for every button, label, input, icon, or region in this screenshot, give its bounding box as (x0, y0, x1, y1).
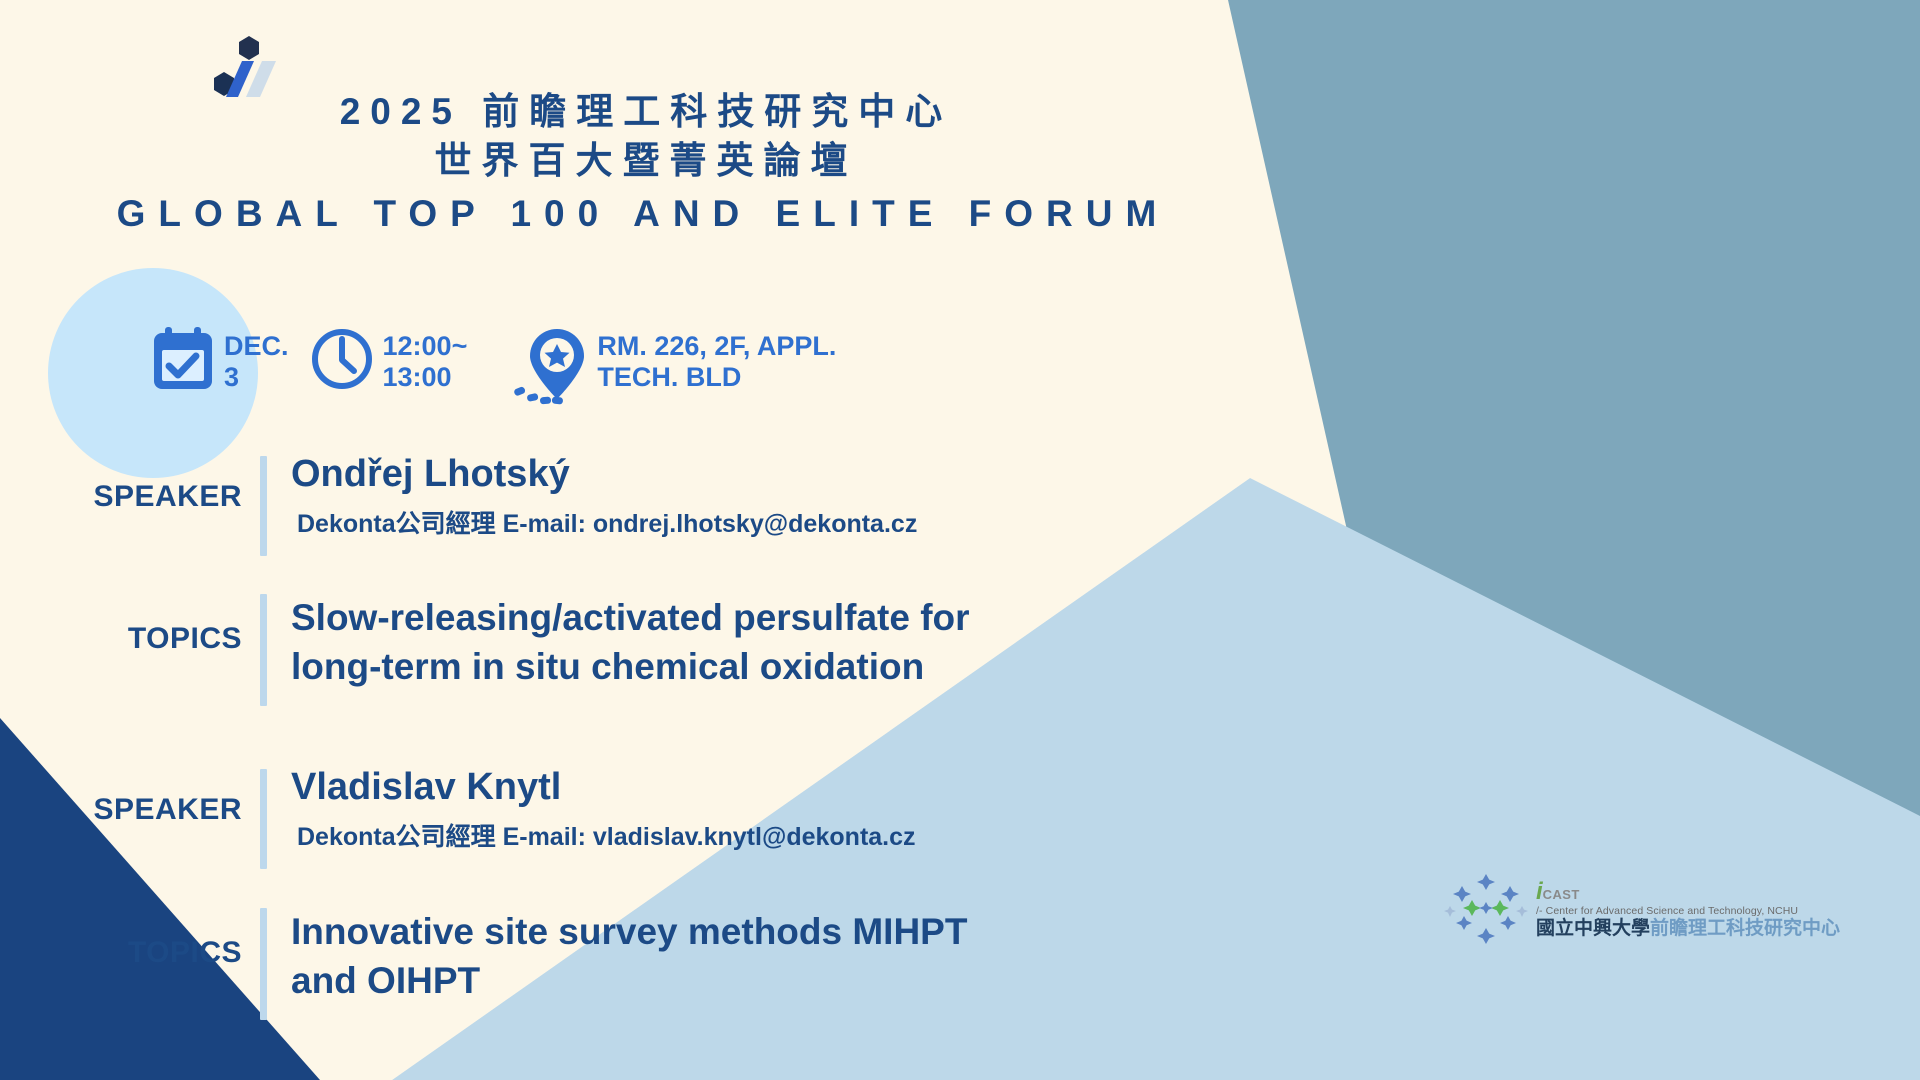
event-date-line-1: DEC. (224, 331, 289, 362)
block-divider (260, 769, 267, 869)
event-date-text: DEC. 3 (224, 325, 289, 394)
block-divider (260, 594, 267, 706)
speaker-block-1: SPEAKER Ondřej Lhotský Dekonta公司經理 E-mai… (0, 452, 1300, 560)
event-time-line-2: 13:00 (383, 362, 468, 393)
speaker-label-1: SPEAKER (0, 452, 260, 514)
event-time-text: 12:00~ 13:00 (383, 325, 468, 394)
topics-label-1: TOPICS (0, 594, 260, 656)
logo-hex-top (239, 36, 259, 60)
icast-wordmark: iCAST (1536, 879, 1840, 904)
event-info-row: DEC. 3 12:00~ 13:00 (152, 325, 836, 411)
speaker-meta-1: Dekonta公司經理 E-mail: ondrej.lhotsky@dekon… (291, 497, 1300, 539)
speaker-body-1: Ondřej Lhotský Dekonta公司經理 E-mail: ondre… (267, 452, 1300, 539)
topics-label-2: TOPICS (0, 908, 260, 970)
poster-canvas: 2025 前瞻理工科技研究中心 世界百大暨菁英論壇 GLOBAL TOP 100… (0, 0, 1920, 1080)
speaker-meta-2: Dekonta公司經理 E-mail: vladislav.knytl@deko… (291, 810, 1300, 852)
event-location-line-2: TECH. BLD (597, 362, 836, 393)
icast-zh-light: 前瞻理工科技研究中心 (1650, 918, 1840, 939)
event-date-line-2: 3 (224, 362, 289, 393)
icast-dots-logo (1444, 872, 1528, 946)
topics-line-1a: Slow-releasing/activated persulfate for (291, 594, 1300, 643)
icast-footer-logo: iCAST /- Center for Advanced Science and… (1444, 872, 1840, 946)
icast-letters-cast: CAST (1543, 887, 1580, 902)
block-divider (260, 908, 267, 1020)
topics-body-1: Slow-releasing/activated persulfate for … (267, 594, 1300, 692)
speaker-body-2: Vladislav Knytl Dekonta公司經理 E-mail: vlad… (267, 765, 1300, 852)
title-chinese-line-1: 2025 前瞻理工科技研究中心 (0, 88, 1270, 137)
event-location-line-1: RM. 226, 2F, APPL. (597, 331, 836, 362)
topics-line-1b: long-term in situ chemical oxidation (291, 643, 1300, 692)
icast-tagline: /- Center for Advanced Science and Techn… (1536, 904, 1840, 917)
icast-chinese-name: 國立中興大學前瞻理工科技研究中心 (1536, 917, 1840, 939)
title-english: GLOBAL TOP 100 AND ELITE FORUM (0, 186, 1270, 242)
clock-icon (311, 325, 373, 391)
speaker-block-2: SPEAKER Vladislav Knytl Dekonta公司經理 E-ma… (0, 765, 1300, 873)
topics-line-2b: and OIHPT (291, 957, 1300, 1006)
block-divider (260, 456, 267, 556)
speaker-name-1: Ondřej Lhotský (291, 452, 1300, 497)
topics-block-1: TOPICS Slow-releasing/activated persulfa… (0, 594, 1300, 714)
title-chinese-line-2: 世界百大暨菁英論壇 (0, 137, 1270, 186)
event-location: RM. 226, 2F, APPL. TECH. BLD (511, 325, 836, 411)
event-date: DEC. 3 (152, 325, 289, 394)
speaker-label-2: SPEAKER (0, 765, 260, 827)
title-block: 2025 前瞻理工科技研究中心 世界百大暨菁英論壇 GLOBAL TOP 100… (0, 88, 1270, 241)
calendar-check-icon (152, 325, 214, 391)
icast-zh-dark: 國立中興大學 (1536, 918, 1650, 939)
event-time: 12:00~ 13:00 (311, 325, 468, 394)
topics-line-2a: Innovative site survey methods MIHPT (291, 908, 1300, 957)
map-pin-star-icon (511, 325, 587, 411)
speaker-name-2: Vladislav Knytl (291, 765, 1300, 810)
topics-body-2: Innovative site survey methods MIHPT and… (267, 908, 1300, 1006)
icast-letter-i: i (1536, 878, 1543, 905)
topics-block-2: TOPICS Innovative site survey methods MI… (0, 908, 1300, 1028)
event-location-text: RM. 226, 2F, APPL. TECH. BLD (597, 325, 836, 394)
icast-logo-text: iCAST /- Center for Advanced Science and… (1536, 879, 1840, 939)
event-time-line-1: 12:00~ (383, 331, 468, 362)
